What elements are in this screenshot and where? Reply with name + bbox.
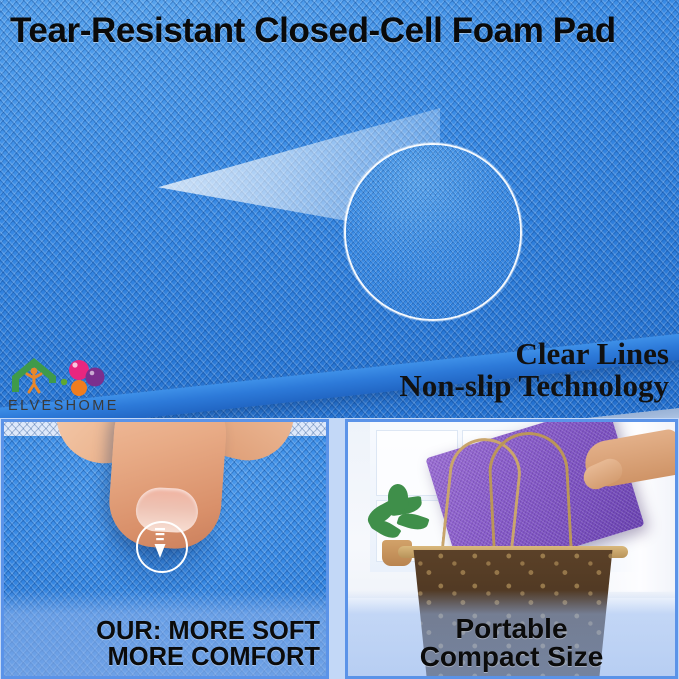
panel-soft-comfort: OUR: MORE SOFT MORE COMFORT xyxy=(1,419,329,679)
hero-section: Tear-Resistant Closed-Cell Foam Pad Clea… xyxy=(0,0,679,418)
panel-portable: Portable Compact Size xyxy=(345,419,678,679)
infographic-page: Tear-Resistant Closed-Cell Foam Pad Clea… xyxy=(0,0,679,679)
house-with-person-logo-icon xyxy=(8,352,116,400)
tagline-line-1: Clear Lines xyxy=(399,338,669,370)
panel-right-scene: Portable Compact Size xyxy=(348,422,675,676)
caption-line-2: Compact Size xyxy=(348,643,675,672)
brand-logo: ELVESHOME xyxy=(8,352,116,414)
page-title: Tear-Resistant Closed-Cell Foam Pad xyxy=(10,11,675,51)
brand-name: ELVESHOME xyxy=(8,398,119,414)
down-arrow-icon xyxy=(154,527,166,561)
panel-left-caption: OUR: MORE SOFT MORE COMFORT xyxy=(4,618,326,670)
caption-line-1: OUR: MORE SOFT xyxy=(4,618,320,644)
hero-tagline: Clear Lines Non-slip Technology xyxy=(399,338,669,401)
magnifier-circle-icon xyxy=(344,143,522,321)
plant-leaf xyxy=(388,484,409,511)
tagline-line-2: Non-slip Technology xyxy=(399,370,669,402)
magnified-texture xyxy=(344,143,522,321)
panel-right-caption: Portable Compact Size xyxy=(348,615,675,672)
caption-line-1: Portable xyxy=(348,615,675,644)
caption-line-2: MORE COMFORT xyxy=(4,644,320,670)
panel-left-scene: OUR: MORE SOFT MORE COMFORT xyxy=(4,422,326,676)
